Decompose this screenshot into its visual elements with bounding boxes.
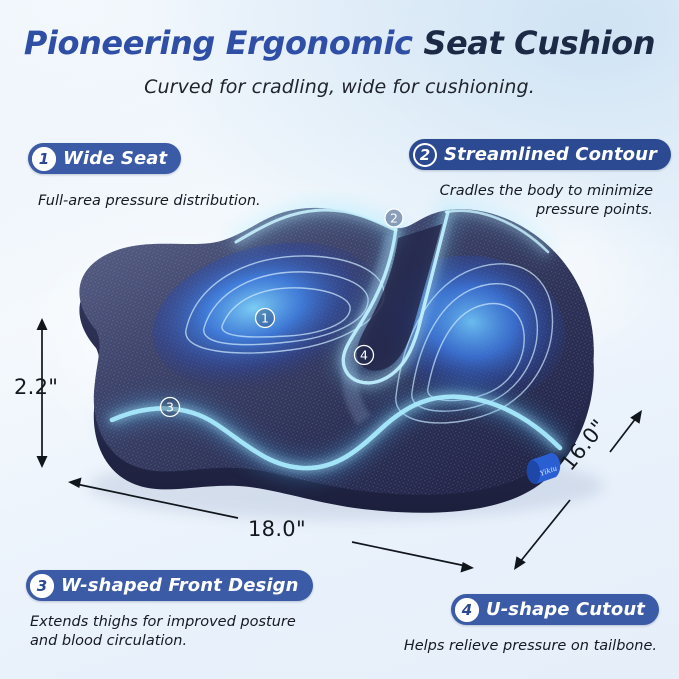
product-marker-3: 3 xyxy=(161,398,180,417)
product-marker-2-text: 2 xyxy=(390,211,398,226)
feature-caption-2: Cradles the body to minimize pressure po… xyxy=(440,182,653,220)
feature-number-4: 4 xyxy=(455,598,479,622)
feature-caption-4: Helps relieve pressure on tailbone. xyxy=(404,637,657,656)
feature-badge-1[interactable]: 1 Wide Seat xyxy=(28,143,181,174)
product-marker-2: 2 xyxy=(385,209,403,227)
product-marker-1-text: 1 xyxy=(261,311,269,326)
feature-caption-2-line2: pressure points. xyxy=(440,201,653,220)
feature-caption-2-line1: Cradles the body to minimize xyxy=(440,182,653,201)
feature-number-1: 1 xyxy=(32,147,56,171)
feature-caption-3-line1: Extends thighs for improved posture xyxy=(30,613,296,632)
infographic-page: Pioneering Ergonomic Seat Cushion Curved… xyxy=(0,0,679,679)
feature-label-3: W-shaped Front Design xyxy=(61,575,299,596)
product-marker-4-text: 4 xyxy=(360,348,368,363)
product-marker-4: 4 xyxy=(355,346,374,365)
product-marker-3-text: 3 xyxy=(166,400,174,415)
feature-label-1: Wide Seat xyxy=(63,148,167,169)
feature-badge-2[interactable]: 2 Streamlined Contour xyxy=(409,139,671,170)
feature-label-2: Streamlined Contour xyxy=(444,144,657,165)
dimension-label-height: 2.2" xyxy=(14,375,58,399)
feature-number-2: 2 xyxy=(413,143,437,167)
feature-number-3: 3 xyxy=(30,574,54,598)
feature-caption-3: Extends thighs for improved posture and … xyxy=(30,613,296,651)
feature-caption-3-line2: and blood circulation. xyxy=(30,632,296,651)
product-marker-1: 1 xyxy=(256,309,275,328)
feature-label-4: U-shape Cutout xyxy=(486,599,645,620)
feature-badge-4[interactable]: 4 U-shape Cutout xyxy=(451,594,659,625)
dimension-label-width: 18.0" xyxy=(248,517,306,541)
feature-badge-3[interactable]: 3 W-shaped Front Design xyxy=(26,570,313,601)
feature-caption-1: Full-area pressure distribution. xyxy=(38,192,261,211)
